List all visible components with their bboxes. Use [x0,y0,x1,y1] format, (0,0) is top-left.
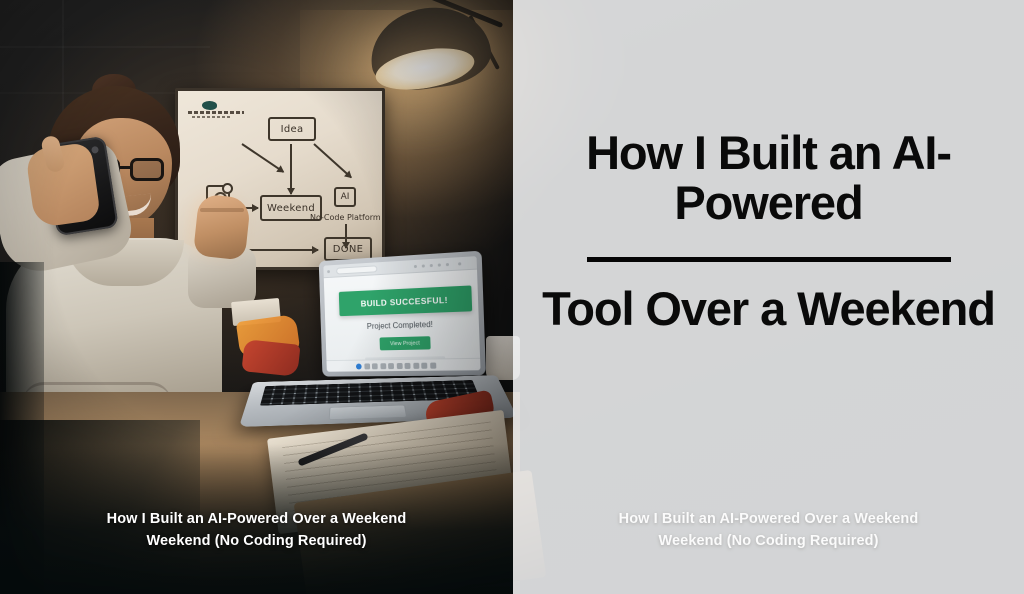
taskbar-icon-3 [380,363,386,369]
whiteboard-arrow-idea-gear [241,143,284,173]
taskbar-icon-5 [396,362,402,368]
browser-dot-1 [327,270,330,273]
taskbar-icon-1 [364,363,370,369]
taskbar-icon-2 [372,363,378,369]
title-line-2: Powered [674,176,862,229]
right-caption-line-1: How I Built an AI-Powered Over a Weekend [619,511,919,527]
project-completed-text: Project Completed! [325,318,479,332]
taskbar-icon-8 [421,362,427,368]
left-caption: How I Built an AI-Powered Over a Weekend… [0,509,513,552]
browser-dot-4 [430,264,433,267]
browser-url-bar [336,265,377,274]
snack-bag-red [241,339,300,377]
right-title-panel: BUILD SUCCESFUL! Project Completed! View… [513,0,1024,594]
whiteboard-node-ai: AI [334,187,356,207]
taskbar-icon-4 [388,363,394,369]
title-line-1: How I Built an AI- [586,126,951,179]
taskbar-icon-7 [413,362,419,368]
left-photo-panel: Idea Weekend AI No-Code Platform DONE [0,0,513,594]
taskbar [326,358,480,372]
person-raised-fist [193,193,251,260]
taskbar-icon-6 [404,362,410,368]
title-divider [587,257,951,262]
page-subtitle: Tool Over a Weekend [534,284,1004,334]
build-success-banner: BUILD SUCCESFUL! [339,285,472,316]
taskbar-icon-9 [430,362,436,368]
laptop-screen: BUILD SUCCESFUL! Project Completed! View… [319,251,486,377]
hero-card-canvas: Idea Weekend AI No-Code Platform DONE [0,0,1024,594]
browser-dot-2 [414,265,417,268]
browser-dot-6 [446,263,449,266]
right-caption: How I Built an AI-Powered Over a Weekend… [513,509,1024,552]
browser-dot-7 [458,262,461,265]
whiteboard-arrow-idea-ai [313,143,351,178]
browser-chrome-bar [323,256,477,278]
whiteboard-node-idea: Idea [268,117,316,141]
taskbar-icon-browser [356,363,362,369]
laptop-trackpad [329,405,408,420]
person-hand-holding-phone [25,142,101,228]
photo-scene: Idea Weekend AI No-Code Platform DONE [0,0,513,594]
right-caption-line-2: Weekend (No Coding Required) [658,533,878,549]
coffee-mug-icon [486,336,513,380]
glasses-lens-right [130,158,164,181]
logo-blob-icon [202,101,217,110]
browser-dot-5 [438,263,441,266]
page-title: How I Built an AI- Powered [543,128,995,229]
whiteboard-arrow-idea-weekend [290,144,292,194]
whiteboard-arrow-ai-done [345,224,347,248]
view-project-button: View Project [380,336,431,350]
person-knuckles [200,208,244,212]
laptop-browser-window: BUILD SUCCESFUL! Project Completed! View… [323,256,480,372]
browser-dot-3 [422,264,425,267]
whiteboard-label-no-code-platform: No-Code Platform [310,213,381,222]
glasses-bridge [119,166,132,169]
whiteboard-logo-icon [188,101,246,121]
left-caption-line-2: Weekend (No Coding Required) [146,533,366,549]
logo-text-line-2 [192,116,230,118]
left-caption-line-1: How I Built an AI-Powered Over a Weekend [107,511,407,527]
logo-text-line-1 [188,111,244,114]
title-block: How I Built an AI- Powered Tool Over a W… [513,0,1024,594]
